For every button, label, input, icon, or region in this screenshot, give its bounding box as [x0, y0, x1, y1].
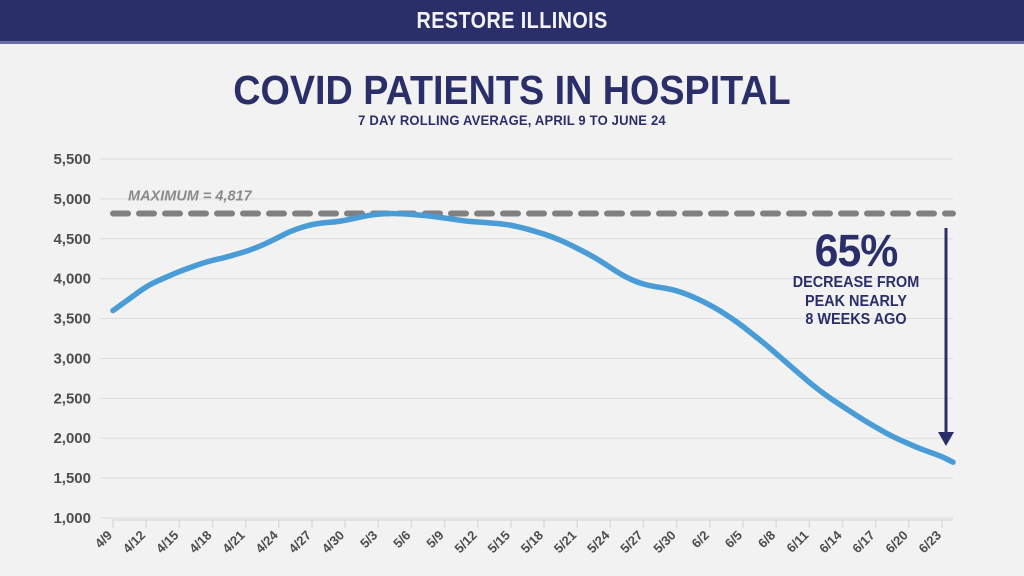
x-tick-label: 4/27: [286, 528, 315, 557]
y-tick-label: 5,000: [53, 191, 91, 208]
annotation-percent: 65%: [776, 228, 936, 274]
y-tick-label: 1,000: [53, 510, 91, 527]
y-tick-label: 2,500: [53, 390, 91, 407]
x-tick-label: 6/17: [849, 528, 878, 557]
x-tick-label: 5/24: [584, 527, 613, 556]
x-tick-label: 5/30: [650, 528, 679, 557]
x-tick-label: 4/12: [120, 528, 149, 557]
x-tick-label: 5/18: [518, 528, 547, 557]
x-tick-label: 4/9: [92, 528, 115, 551]
y-axis-labels: 5,5005,0004,5004,0003,5003,0002,5002,000…: [53, 151, 91, 527]
annotation-line-3: 8 WEEKS AGO: [778, 311, 934, 330]
x-tick-label: 5/6: [390, 528, 413, 551]
x-tick-label: 6/23: [916, 528, 945, 557]
down-arrow-icon: [938, 228, 954, 446]
y-tick-label: 1,500: [53, 470, 91, 487]
x-tick-label: 4/18: [186, 528, 215, 557]
x-tick-label: 5/15: [485, 528, 514, 557]
x-tick-label: 4/15: [153, 528, 182, 557]
annotation-callout: 65% DECREASE FROM PEAK NEARLY 8 WEEKS AG…: [772, 228, 940, 330]
x-tick-label: 5/9: [423, 528, 446, 551]
maximum-label: MAXIMUM = 4,817: [128, 188, 253, 204]
x-tick-label: 6/11: [783, 528, 811, 556]
x-tick-label: 5/12: [451, 528, 480, 557]
annotation-line-1: DECREASE FROM: [778, 274, 934, 293]
x-tick-label: 4/30: [319, 528, 348, 557]
x-tick-label: 6/2: [689, 528, 712, 551]
maximum-reference-line: MAXIMUM = 4,817: [113, 188, 953, 213]
y-tick-label: 3,500: [53, 311, 91, 328]
x-axis-labels: 4/94/124/154/184/214/244/274/305/35/65/9…: [92, 527, 944, 556]
y-tick-label: 3,000: [53, 350, 91, 367]
y-tick-label: 4,500: [53, 231, 91, 248]
x-tick-label: 6/14: [816, 527, 845, 556]
x-tick-label: 5/27: [617, 528, 646, 557]
x-tick-label: 5/21: [551, 528, 580, 557]
y-tick-label: 5,500: [53, 151, 91, 168]
y-tick-label: 4,000: [53, 271, 91, 288]
x-tick-label: 6/5: [722, 528, 745, 551]
x-tick-label: 4/24: [252, 527, 281, 556]
x-tick-label: 5/3: [357, 528, 380, 551]
x-tick-label: 4/21: [219, 528, 248, 557]
annotation-line-2: PEAK NEARLY: [778, 293, 934, 312]
arrow-head: [938, 432, 954, 446]
x-axis: [113, 520, 953, 528]
y-tick-label: 2,000: [53, 430, 91, 447]
x-tick-label: 6/8: [755, 528, 778, 551]
x-tick-label: 6/20: [882, 528, 911, 557]
